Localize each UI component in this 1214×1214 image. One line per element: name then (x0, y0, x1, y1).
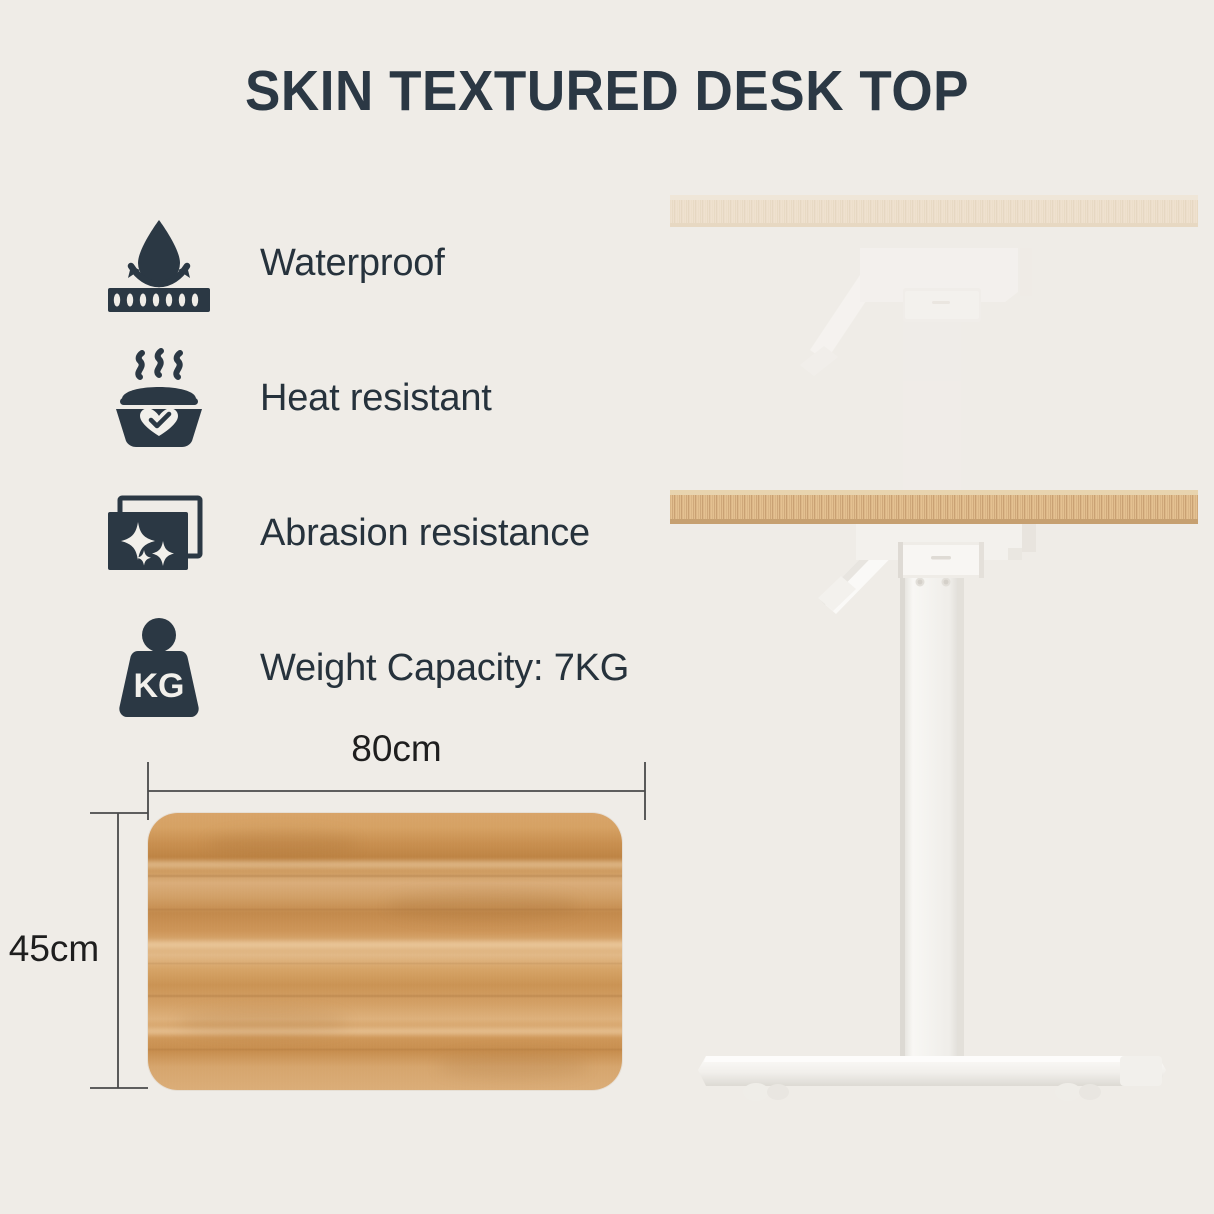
desk-base-foot (698, 1056, 1166, 1101)
feature-label-waterproof: Waterproof (260, 242, 445, 285)
weight-kg-badge-text: KG (134, 667, 185, 705)
desk-top-surface (670, 490, 1198, 524)
feature-label-weight-capacity: Weight Capacity: 7KG (260, 647, 629, 690)
dimension-label-width: 80cm (148, 728, 645, 770)
waterproof-droplet-icon (100, 208, 218, 320)
feature-label-heat-resistant: Heat resistant (260, 377, 492, 420)
feature-row-weight-capacity: KG Weight Capacity: 7KG (100, 601, 700, 736)
feature-row-heat-resistant: Heat resistant (100, 331, 700, 466)
abrasion-sparkle-icon (100, 478, 218, 590)
weight-kg-icon: KG (100, 613, 218, 725)
feature-row-abrasion-resistance: Abrasion resistance (100, 466, 700, 601)
dimension-line-width (148, 762, 645, 820)
page-title: SKIN TEXTURED DESK TOP (42, 58, 1171, 124)
height-adjustable-desk-illustration (660, 170, 1214, 1130)
infographic-page: SKIN TEXTURED DESK TOP (0, 0, 1214, 1214)
desk-lowered-position (670, 490, 1198, 1101)
feature-list: Waterproof (100, 196, 700, 736)
dimension-label-height: 45cm (0, 928, 108, 970)
desk-top-wood-swatch (148, 813, 622, 1090)
feature-row-waterproof: Waterproof (100, 196, 700, 331)
heat-resistant-bowl-icon (100, 343, 218, 455)
feature-label-abrasion-resistance: Abrasion resistance (260, 512, 590, 555)
